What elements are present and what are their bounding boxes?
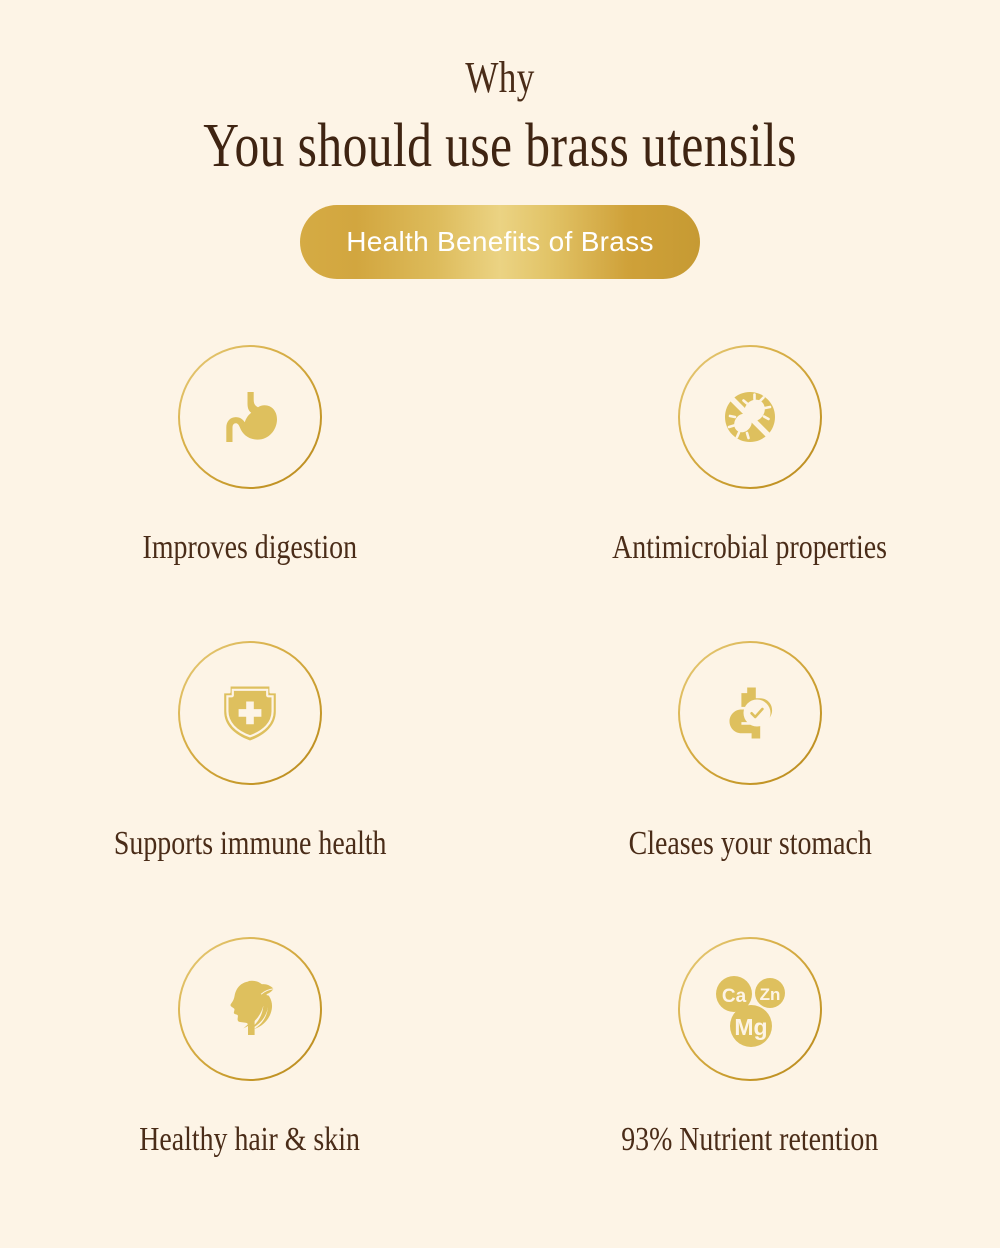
benefit-item: Supports immune health — [0, 641, 500, 937]
benefit-item: Cleases your stomach — [500, 641, 1000, 937]
stomach-icon — [214, 381, 286, 453]
benefit-item: Healthy hair & skin — [0, 937, 500, 1233]
eyebrow-text: Why — [100, 0, 900, 104]
benefit-label: Healthy hair & skin — [140, 1121, 361, 1159]
benefits-grid: Improves digestion — [0, 345, 1000, 1233]
minerals-icon: Ca Zn Mg — [706, 969, 794, 1049]
health-benefits-badge: Health Benefits of Brass — [300, 205, 700, 279]
benefit-item: Improves digestion — [0, 345, 500, 641]
magnesium-label: Mg — [734, 1014, 767, 1040]
benefit-label: 93% Nutrient retention — [621, 1121, 878, 1159]
icon-ring — [678, 641, 822, 785]
benefit-label: Cleases your stomach — [628, 825, 871, 863]
page-title: You should use brass utensils — [100, 104, 900, 182]
intestine-check-icon — [714, 677, 786, 749]
benefit-item: Ca Zn Mg 93% Nutrient retention — [500, 937, 1000, 1233]
header: Why You should use brass utensils — [0, 0, 1000, 182]
calcium-label: Ca — [722, 986, 747, 1007]
benefit-label: Improves digestion — [143, 529, 357, 567]
shield-cross-icon — [214, 677, 286, 749]
benefit-item: Antimicrobial properties — [500, 345, 1000, 641]
benefit-label: Supports immune health — [114, 825, 387, 863]
icon-ring — [178, 345, 322, 489]
badge-container: Health Benefits of Brass — [0, 205, 1000, 279]
no-germ-icon — [714, 381, 786, 453]
woman-hair-leaf-icon — [212, 971, 288, 1047]
icon-ring: Ca Zn Mg — [678, 937, 822, 1081]
icon-ring — [178, 641, 322, 785]
zinc-label: Zn — [760, 985, 781, 1004]
infographic-page: Why You should use brass utensils Health… — [0, 0, 1000, 1248]
icon-ring — [178, 937, 322, 1081]
icon-ring — [678, 345, 822, 489]
benefit-label: Antimicrobial properties — [613, 529, 888, 567]
